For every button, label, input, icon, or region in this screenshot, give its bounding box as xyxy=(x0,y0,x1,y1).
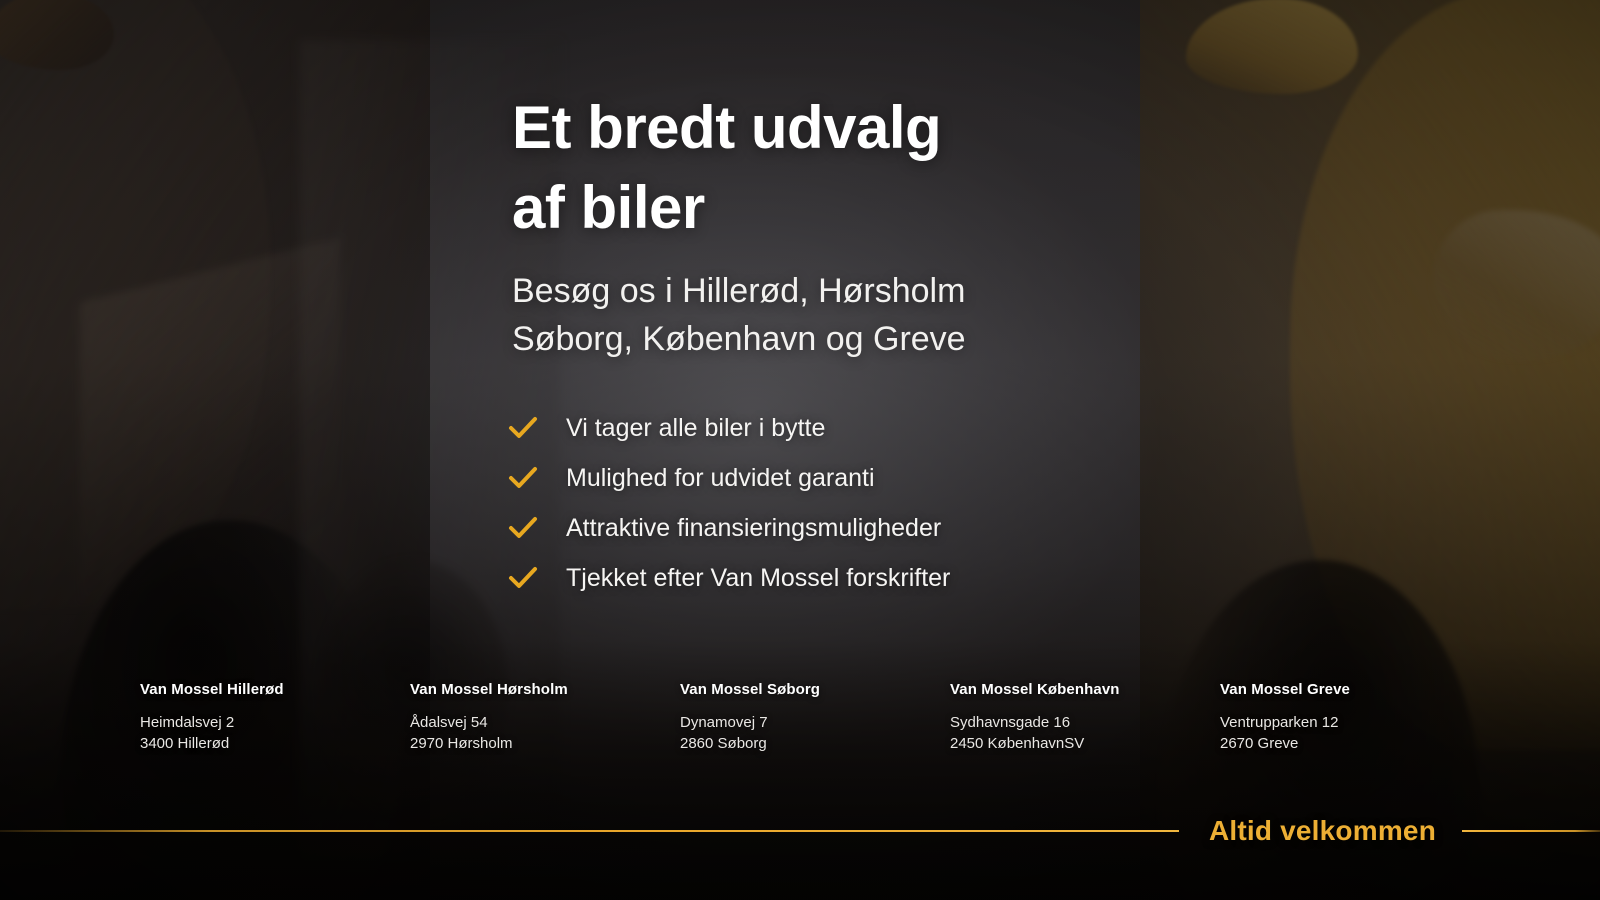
dealer-address: Dynamovej 7 2860 Søborg xyxy=(680,712,930,755)
check-icon xyxy=(506,411,540,445)
dealer-address: Heimdalsvej 2 3400 Hillerød xyxy=(140,712,390,755)
dealer-name: Van Mossel Greve xyxy=(1220,681,1470,698)
promo-banner: Et bredt udvalg af biler Besøg os i Hill… xyxy=(0,0,1600,900)
feature-item: Mulighed for udvidet garanti xyxy=(506,453,950,503)
dealer-name: Van Mossel Hillerød xyxy=(140,681,390,698)
dealer-card: Van Mossel Hillerød Heimdalsvej 2 3400 H… xyxy=(140,681,390,755)
check-icon xyxy=(506,561,540,595)
banner-content: Et bredt udvalg af biler Besøg os i Hill… xyxy=(0,0,1600,900)
check-icon xyxy=(506,511,540,545)
feature-item: Attraktive finansieringsmuligheder xyxy=(506,503,950,553)
feature-item: Tjekket efter Van Mossel forskrifter xyxy=(506,553,950,603)
feature-label: Mulighed for udvidet garanti xyxy=(566,466,875,491)
dealer-card: Van Mossel København Sydhavnsgade 16 245… xyxy=(950,681,1200,755)
feature-label: Attraktive finansieringsmuligheder xyxy=(566,516,941,541)
footer-tagline-bar: Altid velkommen xyxy=(0,806,1600,856)
check-icon xyxy=(506,461,540,495)
headline: Et bredt udvalg af biler xyxy=(512,88,1212,248)
dealer-card: Van Mossel Søborg Dynamovej 7 2860 Søbor… xyxy=(680,681,930,755)
feature-item: Vi tager alle biler i bytte xyxy=(506,403,950,453)
divider-rule-right xyxy=(1462,830,1600,832)
tagline: Altid velkommen xyxy=(1179,815,1462,847)
subheadline: Besøg os i Hillerød, Hørsholm Søborg, Kø… xyxy=(512,268,1212,363)
feature-list: Vi tager alle biler i bytte Mulighed for… xyxy=(506,403,950,603)
divider-rule-left xyxy=(0,830,1179,832)
dealer-address: Ådalsvej 54 2970 Hørsholm xyxy=(410,712,660,755)
dealer-card: Van Mossel Greve Ventrupparken 12 2670 G… xyxy=(1220,681,1470,755)
dealer-name: Van Mossel Søborg xyxy=(680,681,930,698)
dealer-address: Ventrupparken 12 2670 Greve xyxy=(1220,712,1470,755)
feature-label: Tjekket efter Van Mossel forskrifter xyxy=(566,566,950,591)
dealer-name: Van Mossel Hørsholm xyxy=(410,681,660,698)
dealer-address: Sydhavnsgade 16 2450 KøbenhavnSV xyxy=(950,712,1200,755)
dealer-card: Van Mossel Hørsholm Ådalsvej 54 2970 Hør… xyxy=(410,681,660,755)
dealer-list: Van Mossel Hillerød Heimdalsvej 2 3400 H… xyxy=(140,681,1470,755)
dealer-name: Van Mossel København xyxy=(950,681,1200,698)
feature-label: Vi tager alle biler i bytte xyxy=(566,416,825,441)
